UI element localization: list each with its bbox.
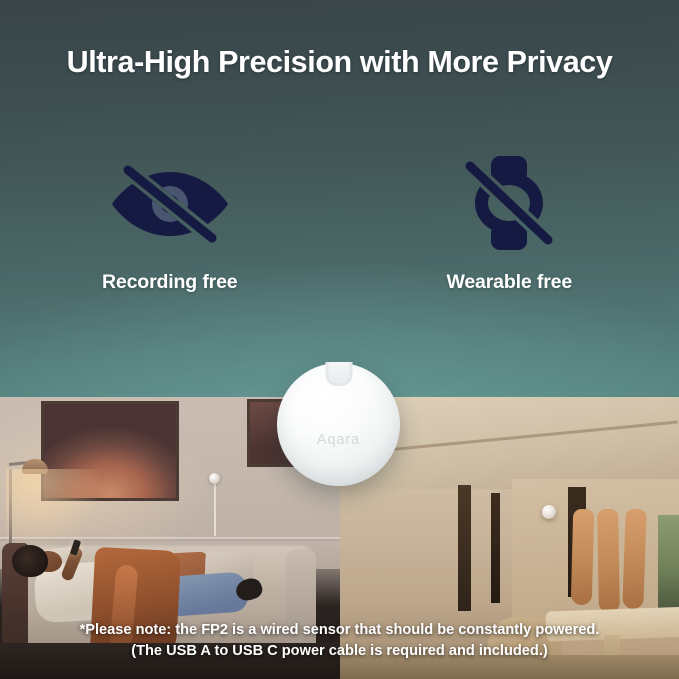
footnote-line-2: (The USB A to USB C power cable is requi… [0,641,679,662]
floor-lamp-shade [22,459,48,474]
person-hair [12,545,48,577]
wall-mounted-sensor-left [209,473,220,484]
aqara-fp2-sensor: Aqara [277,363,400,486]
footnote-line-1: *Please note: the FP2 is a wired sensor … [0,620,679,641]
feature-label-wearable-free: Wearable free [446,271,572,294]
slat-gap-dark-1 [458,485,471,611]
wood-sculpture-2 [597,509,620,613]
wood-sculpture-3 [622,509,646,610]
wall-art-large [41,401,179,501]
no-wearable-watch-icon [457,150,561,254]
device-brand-label: Aqara [277,432,400,448]
feature-recording-free: Recording free [0,150,340,294]
feature-wearable-free: Wearable free [340,150,679,294]
feature-list: Recording free [0,150,679,294]
wood-sculpture-1 [571,509,595,606]
device-mount-notch [325,362,352,386]
footnote: *Please note: the FP2 is a wired sensor … [0,620,679,661]
slat-gap-dark-2 [491,493,500,603]
hero-panel: Ultra-High Precision with More Privacy [0,0,679,398]
wall-mounted-sensor-right [542,505,556,519]
window-right [658,515,679,609]
no-recording-eye-icon [110,150,230,254]
sensor-power-cable-left [214,484,216,536]
feature-label-recording-free: Recording free [102,271,238,294]
product-feature-poster: Ultra-High Precision with More Privacy [0,0,679,679]
page-title: Ultra-High Precision with More Privacy [0,46,679,80]
